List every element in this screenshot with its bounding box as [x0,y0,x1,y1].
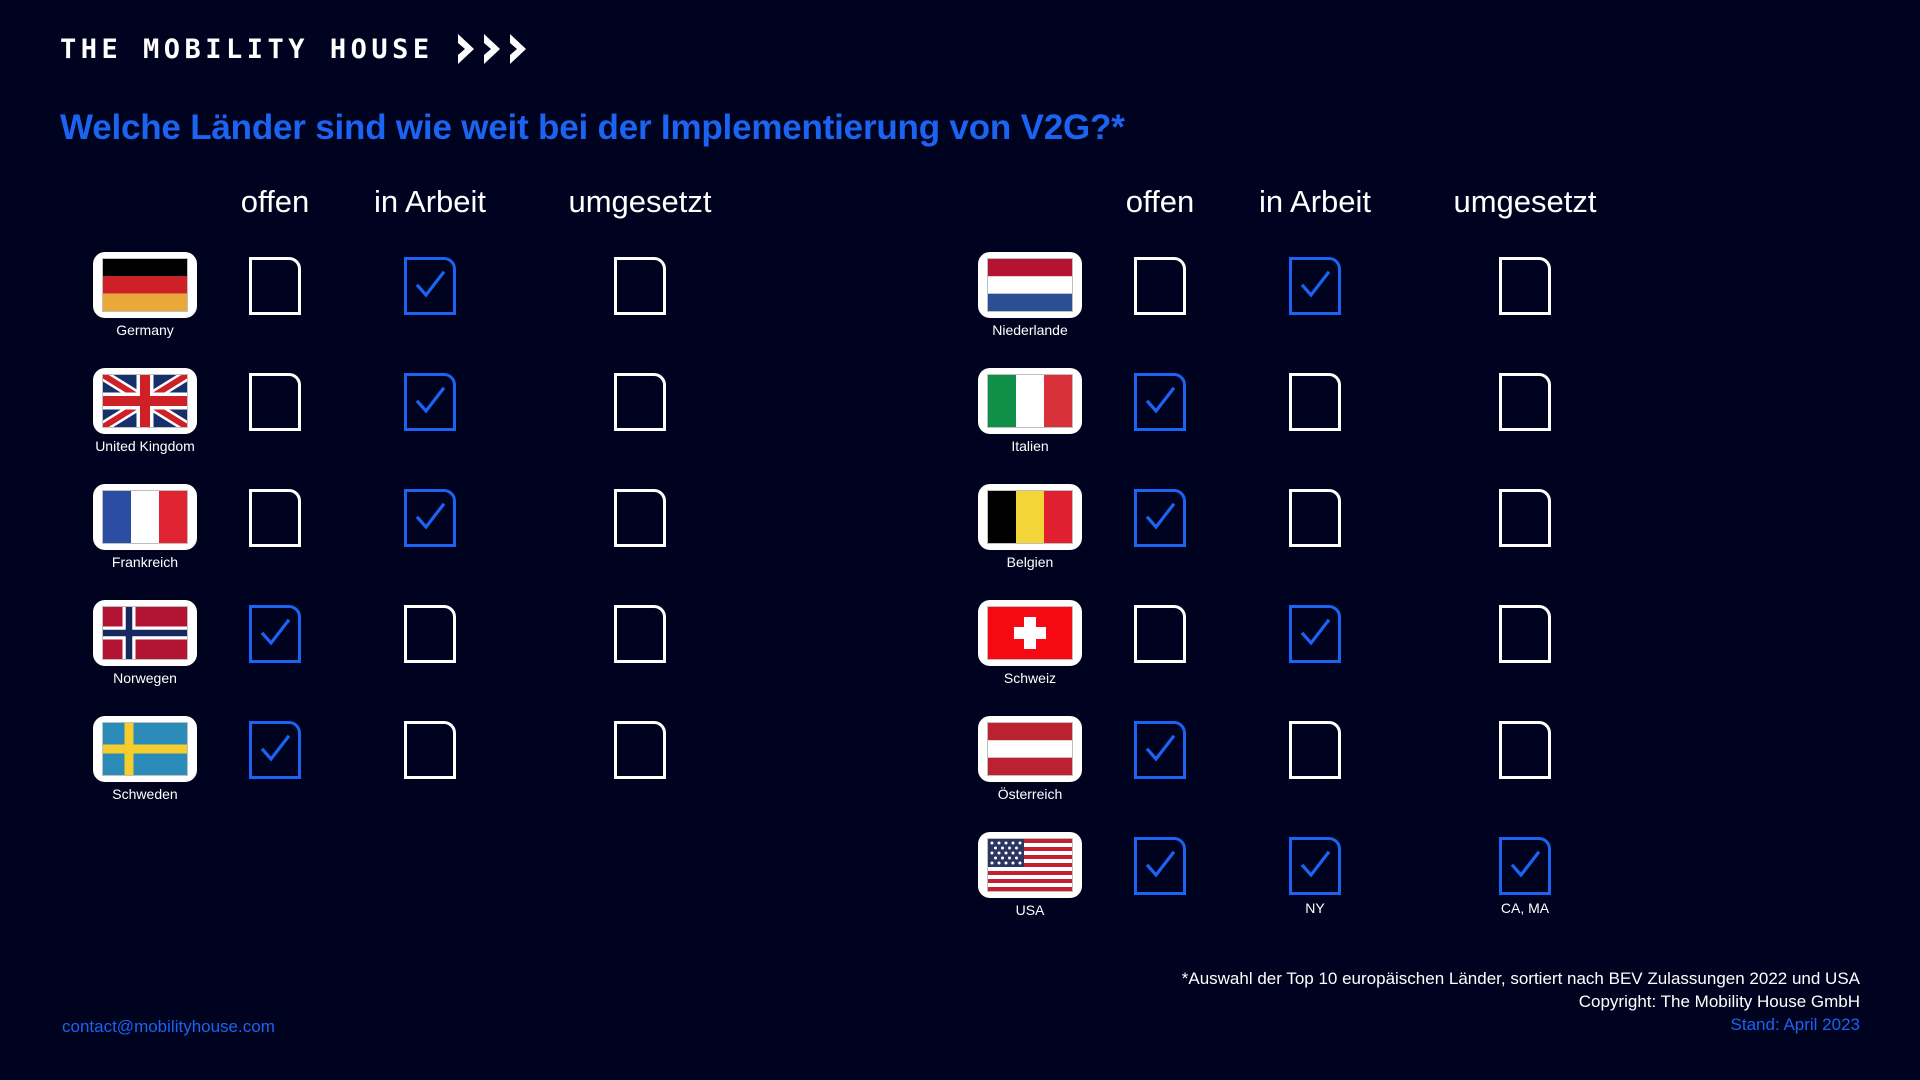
flag-united-kingdom [103,375,187,427]
country-row: Frankreich [60,484,890,600]
flag-sweden-icon [93,716,197,782]
checkbox-open-unchecked[interactable] [249,257,301,315]
flag-netherlands [988,259,1072,311]
checkbox-cell-open[interactable] [215,605,335,685]
checkbox-cell-open[interactable] [1100,489,1220,569]
country-label: Norwegen [113,671,177,686]
country-flag-cell: Niederlande [945,252,1115,338]
country-row: Germany [60,252,890,368]
checkbox-in-progress-checked[interactable] [404,489,456,547]
flag-france-icon [93,484,197,550]
checkbox-cell-in-progress[interactable]: NY [1255,837,1375,917]
check-icon [258,617,292,651]
flag-germany-icon [93,252,197,318]
checkbox-in-progress-checked[interactable] [404,257,456,315]
country-flag-cell: Germany [60,252,230,338]
footer-copyright: Copyright: The Mobility House GmbH [1182,991,1860,1014]
checkbox-open-checked[interactable] [249,605,301,663]
flag-austria [988,723,1072,775]
flag-norway-icon [93,600,197,666]
country-label: USA [1016,903,1045,918]
country-flag-cell: USA [945,832,1115,918]
country-label: Schweden [112,787,177,802]
checkbox-implemented-unchecked[interactable] [614,257,666,315]
checkbox-cell-open[interactable] [1100,257,1220,337]
country-flag-cell: Schweden [60,716,230,802]
checkbox-implemented-unchecked[interactable] [1499,489,1551,547]
checkbox-cell-in-progress[interactable] [1255,373,1375,453]
checkbox-implemented-unchecked[interactable] [614,373,666,431]
checkbox-sublabel: NY [1305,901,1324,917]
column-header-implemented: umgesetzt [1453,186,1596,217]
checkbox-cell-implemented[interactable] [1465,489,1585,569]
country-label: United Kingdom [95,439,195,454]
footer-status-date: Stand: April 2023 [1182,1014,1860,1037]
country-block-left: offenin ArbeitumgesetztGermanyUnited Kin… [60,186,890,832]
flag-switzerland-icon [978,600,1082,666]
checkbox-open-unchecked[interactable] [249,373,301,431]
checkbox-cell-open[interactable] [1100,605,1220,685]
checkbox-implemented-unchecked[interactable] [1499,721,1551,779]
country-block-right: offenin ArbeitumgesetztNiederlandeItalie… [945,186,1775,948]
check-icon [1298,849,1332,883]
checkbox-in-progress-unchecked[interactable] [1289,489,1341,547]
checkbox-implemented-unchecked[interactable] [614,605,666,663]
checkbox-sublabel: CA, MA [1501,901,1549,917]
checkbox-in-progress-checked[interactable] [1289,837,1341,895]
checkbox-open-checked[interactable] [1134,373,1186,431]
country-row: United Kingdom [60,368,890,484]
checkbox-implemented-unchecked[interactable] [1499,605,1551,663]
checkbox-cell-in-progress[interactable] [370,721,490,801]
flag-france [103,491,187,543]
checkbox-cell-in-progress[interactable] [370,257,490,337]
checkbox-in-progress-checked[interactable] [1289,257,1341,315]
checkbox-implemented-unchecked[interactable] [614,489,666,547]
checkbox-cell-open[interactable] [215,373,335,453]
country-label: Schweiz [1004,671,1056,686]
country-flag-cell: Belgien [945,484,1115,570]
checkbox-cell-in-progress[interactable] [1255,605,1375,685]
country-rows: GermanyUnited KingdomFrankreichNorwegenS… [60,252,890,832]
flag-norway [103,607,187,659]
checkbox-in-progress-unchecked[interactable] [404,721,456,779]
country-flag-cell: Italien [945,368,1115,454]
checkbox-cell-in-progress[interactable] [370,605,490,685]
country-row: Schweden [60,716,890,832]
check-icon [1143,849,1177,883]
country-label: Belgien [1007,555,1054,570]
country-row: Niederlande [945,252,1775,368]
checkbox-cell-implemented[interactable] [580,605,700,685]
country-row: Schweiz [945,600,1775,716]
country-label: Österreich [998,787,1063,802]
country-label: Germany [116,323,174,338]
checkbox-cell-in-progress[interactable] [1255,489,1375,569]
checkbox-implemented-unchecked[interactable] [1499,257,1551,315]
checkbox-implemented-unchecked[interactable] [614,721,666,779]
checkbox-cell-implemented[interactable] [580,721,700,801]
check-icon [1298,617,1332,651]
checkbox-open-checked[interactable] [1134,489,1186,547]
country-flag-cell: Österreich [945,716,1115,802]
flag-belgium-icon [978,484,1082,550]
country-flag-cell: Frankreich [60,484,230,570]
check-icon [1143,385,1177,419]
checkbox-cell-in-progress[interactable] [370,373,490,453]
check-icon [1143,501,1177,535]
checkbox-cell-in-progress[interactable] [1255,721,1375,801]
flag-usa-icon [978,832,1082,898]
country-rows: NiederlandeItalienBelgienSchweizÖsterrei… [945,252,1775,948]
checkbox-open-unchecked[interactable] [1134,257,1186,315]
check-icon [1298,269,1332,303]
checkbox-open-checked[interactable] [249,721,301,779]
checkbox-in-progress-checked[interactable] [1289,605,1341,663]
country-row: USANYCA, MA [945,832,1775,948]
checkbox-cell-open[interactable] [215,257,335,337]
check-icon [413,269,447,303]
checkbox-in-progress-unchecked[interactable] [404,605,456,663]
column-header-row: offenin Arbeitumgesetzt [60,186,890,238]
checkbox-cell-open[interactable] [215,489,335,569]
country-row: Italien [945,368,1775,484]
check-icon [258,733,292,767]
country-flag-cell: Norwegen [60,600,230,686]
country-row: Norwegen [60,600,890,716]
footer-notes: *Auswahl der Top 10 europäischen Länder,… [1182,968,1860,1037]
checkbox-cell-implemented[interactable] [1465,605,1585,685]
country-row: Österreich [945,716,1775,832]
flag-germany [103,259,187,311]
column-header-in-progress: in Arbeit [374,186,486,217]
flag-usa [988,839,1072,891]
checkbox-cell-open[interactable] [1100,373,1220,453]
checkbox-cell-in-progress[interactable] [370,489,490,569]
checkbox-open-checked[interactable] [1134,837,1186,895]
country-label: Frankreich [112,555,178,570]
column-header-open: offen [1126,186,1194,217]
checkbox-cell-implemented[interactable] [580,373,700,453]
checkbox-cell-open[interactable] [215,721,335,801]
country-flag-cell: United Kingdom [60,368,230,454]
flag-italy [988,375,1072,427]
column-header-row: offenin Arbeitumgesetzt [945,186,1775,238]
flag-switzerland [988,607,1072,659]
column-header-open: offen [241,186,309,217]
country-flag-cell: Schweiz [945,600,1115,686]
flag-united-kingdom-icon [93,368,197,434]
checkbox-implemented-unchecked[interactable] [1499,373,1551,431]
flag-italy-icon [978,368,1082,434]
column-header-implemented: umgesetzt [568,186,711,217]
checkbox-open-checked[interactable] [1134,721,1186,779]
checkbox-implemented-checked[interactable] [1499,837,1551,895]
checkbox-in-progress-checked[interactable] [404,373,456,431]
checkbox-cell-implemented[interactable] [580,257,700,337]
checkbox-in-progress-unchecked[interactable] [1289,721,1341,779]
country-row: Belgien [945,484,1775,600]
checkbox-in-progress-unchecked[interactable] [1289,373,1341,431]
check-icon [1508,849,1542,883]
contact-email-link[interactable]: contact@mobilityhouse.com [62,1017,275,1037]
check-icon [1143,733,1177,767]
checkbox-cell-in-progress[interactable] [1255,257,1375,337]
country-label: Italien [1011,439,1048,454]
flag-netherlands-icon [978,252,1082,318]
checkbox-cell-implemented[interactable] [1465,373,1585,453]
checkbox-open-unchecked[interactable] [249,489,301,547]
footer-source-note: *Auswahl der Top 10 europäischen Länder,… [1182,968,1860,991]
column-header-in-progress: in Arbeit [1259,186,1371,217]
checkbox-cell-implemented[interactable] [1465,257,1585,337]
checkbox-cell-implemented[interactable] [1465,721,1585,801]
flag-sweden [103,723,187,775]
country-label: Niederlande [992,323,1068,338]
checkbox-cell-implemented[interactable] [580,489,700,569]
checkbox-cell-open[interactable] [1100,837,1220,917]
flag-belgium [988,491,1072,543]
check-icon [413,385,447,419]
check-icon [413,501,447,535]
checkbox-cell-open[interactable] [1100,721,1220,801]
checkbox-open-unchecked[interactable] [1134,605,1186,663]
v2g-status-board: offenin ArbeitumgesetztGermanyUnited Kin… [0,0,1920,1080]
flag-austria-icon [978,716,1082,782]
checkbox-cell-implemented[interactable]: CA, MA [1465,837,1585,917]
